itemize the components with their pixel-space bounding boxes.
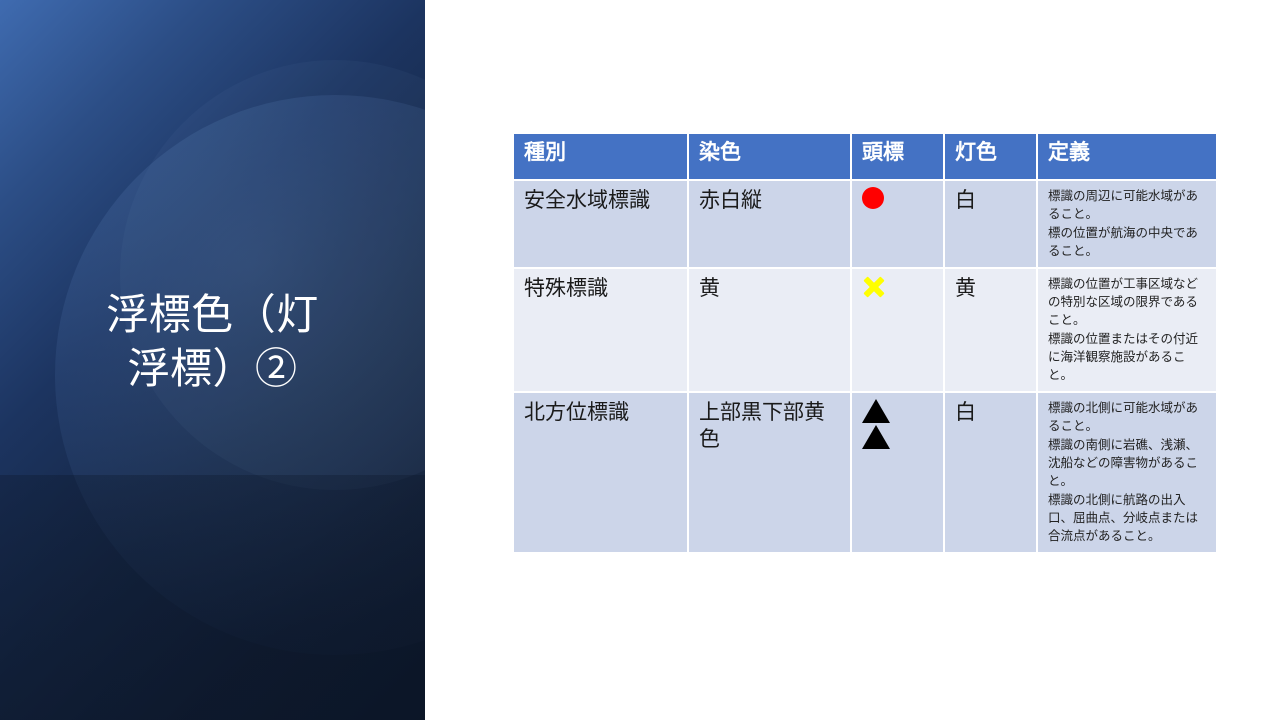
cell-definition: 標識の周辺に可能水域があること。 標の位置が航海の中央であること。 xyxy=(1038,181,1216,269)
cell-definition: 標識の位置が工事区域などの特別な区域の限界であること。 標識の位置またはその付近… xyxy=(1038,269,1216,393)
cell-topmark xyxy=(852,269,945,393)
slide-title-panel: 浮標色（灯 浮標）② xyxy=(0,0,425,720)
cell-paint: 黄 xyxy=(689,269,852,393)
cell-type: 北方位標識 xyxy=(514,393,689,552)
cell-topmark xyxy=(852,393,945,552)
decorative-band xyxy=(0,475,425,720)
column-header-topmark: 頭標 xyxy=(852,134,945,181)
black-triangle-lower-icon xyxy=(862,425,890,449)
table-row: 特殊標識 黄 黄 標識の位置が工事区域などの特別な区域の限界であること。 標識の… xyxy=(514,269,1216,393)
buoy-color-table: 種別 染色 頭標 灯色 定義 安全水域標識 赤白縦 白 標識の周辺に可能水域があ… xyxy=(514,134,1216,552)
red-circle-icon xyxy=(862,187,884,209)
column-header-paint: 染色 xyxy=(689,134,852,181)
cell-type: 安全水域標識 xyxy=(514,181,689,269)
table-row: 安全水域標識 赤白縦 白 標識の周辺に可能水域があること。 標の位置が航海の中央… xyxy=(514,181,1216,269)
table-row: 北方位標識 上部黒下部黄色 白 標識の北側に可能水域があること。 標識の南側に岩… xyxy=(514,393,1216,552)
cell-topmark xyxy=(852,181,945,269)
cell-definition: 標識の北側に可能水域があること。 標識の南側に岩礁、浅瀬、沈船などの障害物がある… xyxy=(1038,393,1216,552)
page-title: 浮標色（灯 浮標）② xyxy=(40,288,385,396)
cell-light-color: 白 xyxy=(945,181,1038,269)
column-header-type: 種別 xyxy=(514,134,689,181)
cell-paint: 上部黒下部黄色 xyxy=(689,393,852,552)
column-header-definition: 定義 xyxy=(1038,134,1216,181)
cell-light-color: 白 xyxy=(945,393,1038,552)
cell-type: 特殊標識 xyxy=(514,269,689,393)
cell-light-color: 黄 xyxy=(945,269,1038,393)
black-triangle-upper-icon xyxy=(862,399,890,423)
column-header-light-color: 灯色 xyxy=(945,134,1038,181)
table-header-row: 種別 染色 頭標 灯色 定義 xyxy=(514,134,1216,181)
yellow-cross-icon xyxy=(862,275,886,299)
cell-paint: 赤白縦 xyxy=(689,181,852,269)
